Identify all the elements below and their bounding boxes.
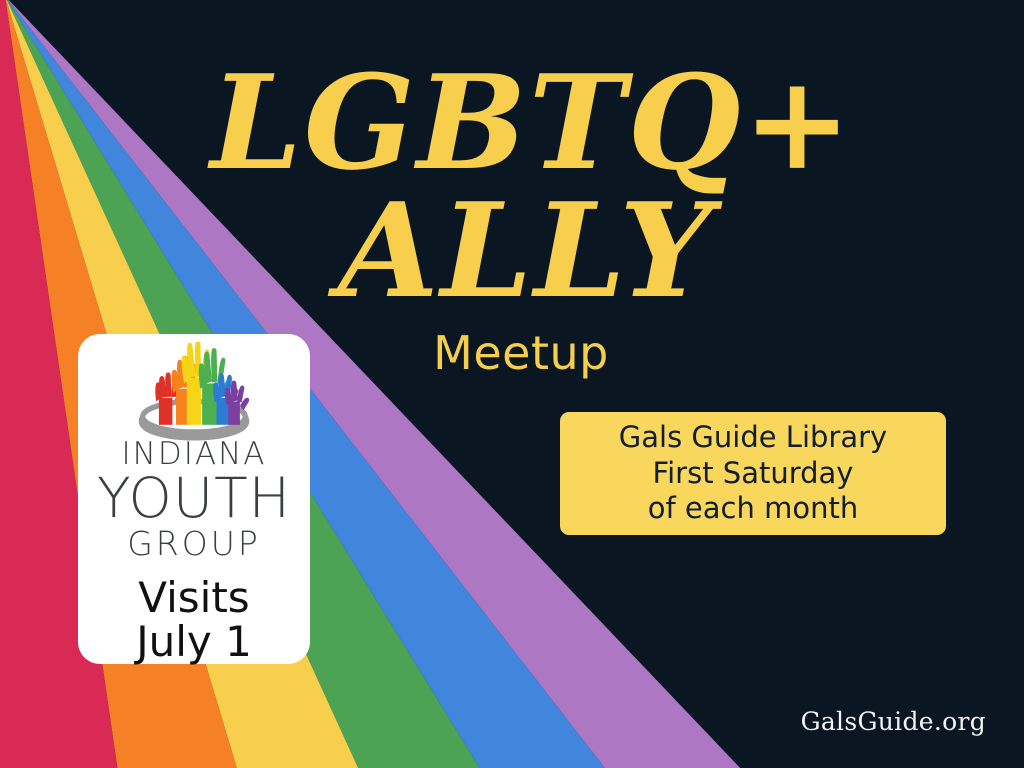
- watermark: GalsGuide.org: [801, 707, 986, 736]
- iyg-org-line-3: GROUP: [127, 527, 261, 560]
- rainbow-hands-icon: [119, 342, 269, 443]
- info-line-day: First Saturday: [653, 456, 854, 492]
- iyg-visit-line-1: Visits: [138, 576, 249, 620]
- iyg-card: INDIANA YOUTH GROUP Visits July 1: [78, 334, 310, 664]
- page-title-line-2: ALLY: [0, 186, 1024, 316]
- page-title-line-1: LGBTQ+: [0, 58, 1024, 188]
- info-line-venue: Gals Guide Library: [619, 420, 887, 456]
- info-box: Gals Guide Library First Saturday of eac…: [560, 412, 946, 535]
- iyg-visit-line-2: July 1: [136, 620, 252, 664]
- poster-canvas: LGBTQ+ ALLY Meetup: [0, 0, 1024, 768]
- iyg-org-line-2: YOUTH: [97, 471, 291, 526]
- info-line-frequency: of each month: [648, 491, 858, 527]
